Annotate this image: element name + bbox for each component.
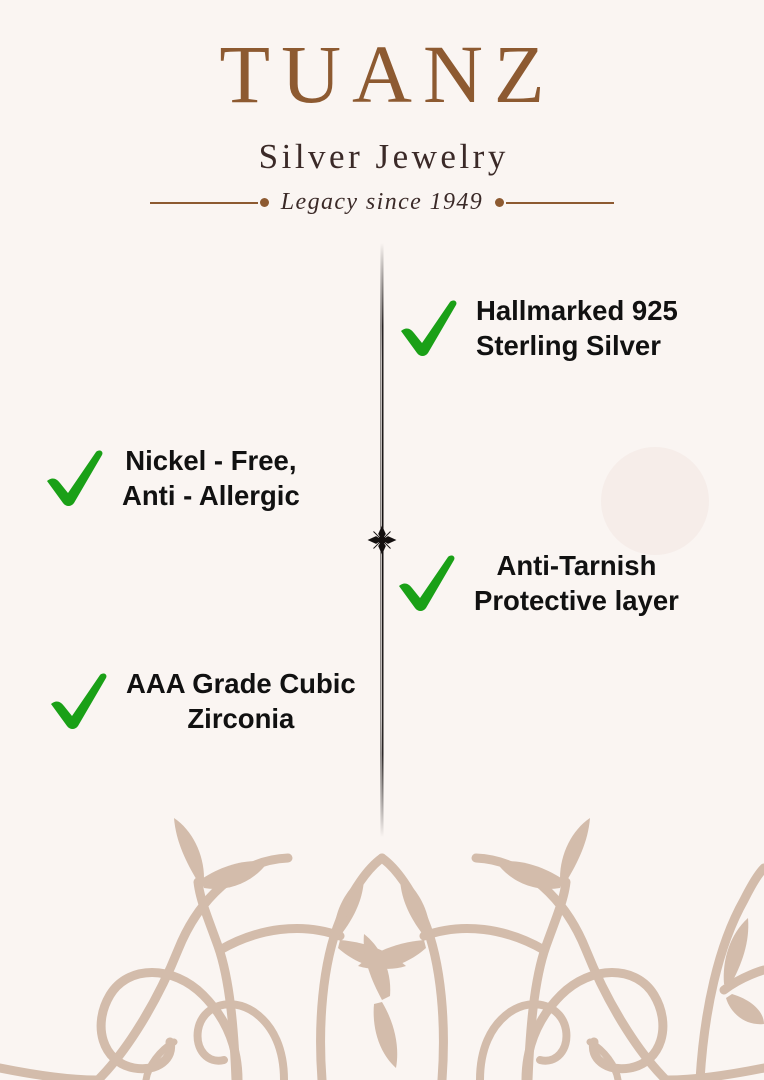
- check-icon: [48, 673, 112, 729]
- check-icon: [398, 300, 462, 356]
- decorative-circle: [601, 447, 709, 555]
- quatrefoil-ornament-icon: [365, 523, 399, 557]
- brand-tagline: Legacy since 1949: [271, 189, 493, 216]
- rule-line-left: [150, 202, 258, 203]
- feature-item-hallmarked-sterling-silver: Hallmarked 925 Sterling Silver: [398, 293, 678, 363]
- brand-header: TUANZ Silver Jewelry Legacy since 1949: [0, 32, 764, 216]
- feature-item-nickel-free-anti-allergic: Nickel - Free, Anti - Allergic: [44, 443, 300, 513]
- feature-item-aaa-grade-cubic-zirconia: AAA Grade Cubic Zirconia: [48, 666, 356, 736]
- feature-item-anti-tarnish-protective-layer: Anti-Tarnish Protective layer: [396, 548, 679, 618]
- poster-canvas: TUANZ Silver Jewelry Legacy since 1949: [0, 0, 764, 1080]
- check-icon: [396, 555, 460, 611]
- feature-label: Nickel - Free, Anti - Allergic: [122, 443, 300, 513]
- feature-label: AAA Grade Cubic Zirconia: [126, 666, 356, 736]
- feature-label: Anti-Tarnish Protective layer: [474, 548, 679, 618]
- brand-subtitle: Silver Jewelry: [0, 135, 764, 179]
- brand-tagline-rule: Legacy since 1949: [0, 189, 764, 216]
- rule-line-right: [506, 202, 614, 203]
- brand-name: TUANZ: [0, 32, 764, 117]
- check-icon: [44, 450, 108, 506]
- rule-dot-right: [495, 198, 504, 207]
- feature-label: Hallmarked 925 Sterling Silver: [476, 293, 678, 363]
- rule-dot-left: [260, 198, 269, 207]
